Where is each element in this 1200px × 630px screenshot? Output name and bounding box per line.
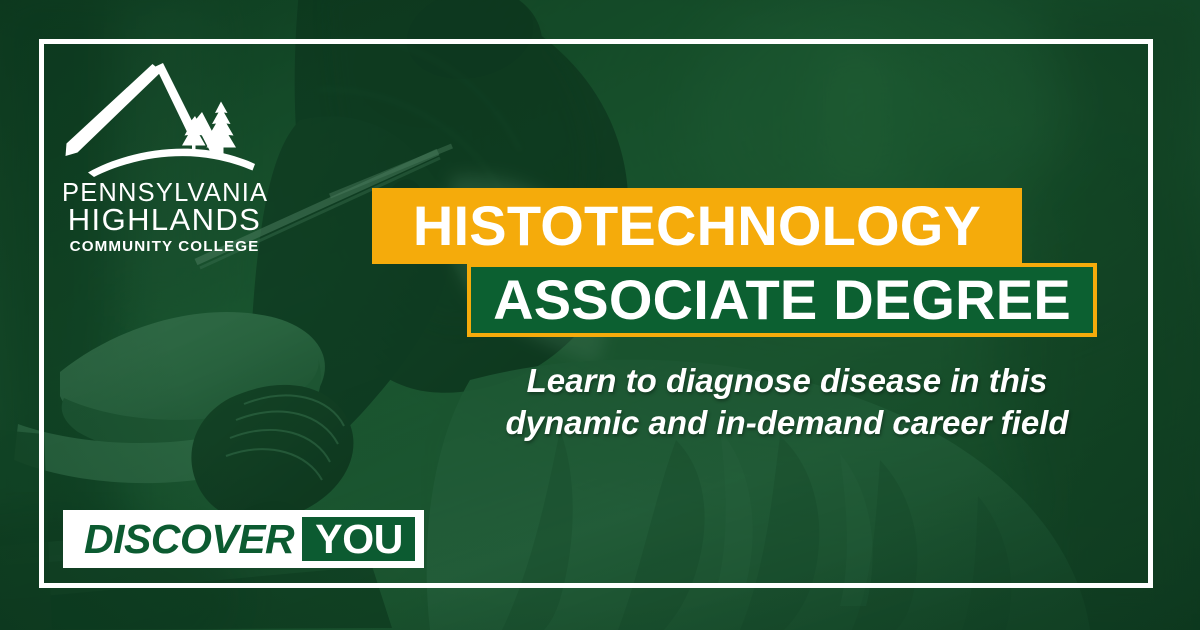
headline-line-2: ASSOCIATE DEGREE bbox=[493, 272, 1071, 328]
promo-poster: PENNSYLVANIA HIGHLANDS COMMUNITY COLLEGE… bbox=[0, 0, 1200, 630]
badge-you-box: YOU bbox=[302, 517, 415, 561]
college-logo: PENNSYLVANIA HIGHLANDS COMMUNITY COLLEGE bbox=[62, 60, 267, 250]
badge-word-discover: DISCOVER bbox=[72, 519, 300, 560]
subtitle: Learn to diagnose disease in this dynami… bbox=[477, 360, 1097, 444]
headline-banner-secondary: ASSOCIATE DEGREE bbox=[467, 263, 1097, 337]
mountain-pines-logo-icon bbox=[62, 60, 267, 180]
subtitle-line-1: Learn to diagnose disease in this bbox=[477, 360, 1097, 402]
logo-text-community-college: COMMUNITY COLLEGE bbox=[62, 238, 267, 255]
headline-line-1: HISTOTECHNOLOGY bbox=[413, 198, 981, 254]
subtitle-line-2: dynamic and in-demand career field bbox=[477, 402, 1097, 444]
logo-text-highlands: HIGHLANDS bbox=[62, 206, 267, 235]
discover-you-badge: DISCOVER YOU bbox=[63, 510, 424, 568]
headline-banner-primary: HISTOTECHNOLOGY bbox=[372, 188, 1022, 264]
badge-word-you: YOU bbox=[315, 519, 403, 560]
